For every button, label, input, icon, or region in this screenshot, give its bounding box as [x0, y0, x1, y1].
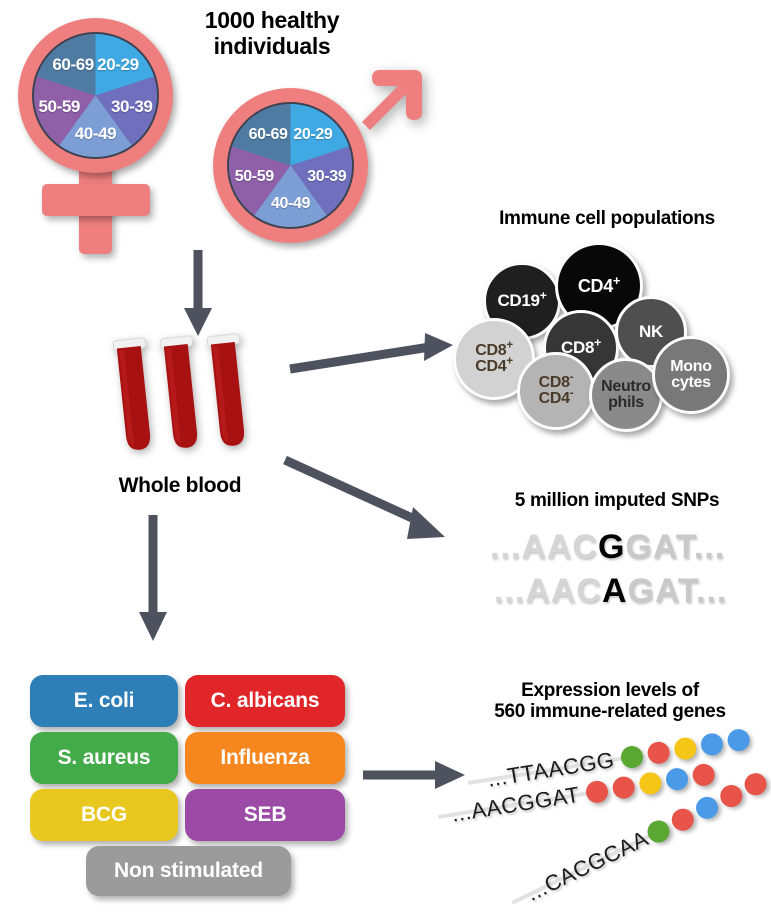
immune-cell-bubbles: CD19+CD4+CD8+CD4+CD8+NKCD8-CD4-Neutrophi…: [455, 240, 771, 425]
snp-suffix: GAT...: [625, 528, 725, 566]
arrow-down-to-stimuli: [133, 515, 173, 645]
pie-label-60-69: 60-69: [52, 55, 93, 75]
stimuli-buttons: E. coliC. albicansS. aureusInfluenzaBCGS…: [30, 675, 350, 900]
immune-cell-label: NK: [639, 323, 663, 340]
snp-title: 5 million imputed SNPs: [467, 490, 767, 511]
gene-expression-bead: [584, 779, 609, 804]
snp-sequence-row: ...AACAGAT...: [494, 572, 727, 611]
gene-expression-bead: [638, 771, 663, 796]
gene-expression-bead: [726, 728, 751, 753]
pie-label-40-49: 40-49: [271, 195, 310, 213]
immune-cell-label: CD4+: [578, 277, 620, 295]
female-symbol-crossbar: [42, 184, 150, 216]
snp-sequence-row: ...AACGGAT...: [490, 528, 725, 567]
stimulus-e-coli[interactable]: E. coli: [30, 675, 178, 727]
snp-prefix: ...AAC: [494, 572, 602, 610]
blood-tube-icon: [199, 331, 257, 456]
stimulus-label: S. aureus: [58, 746, 151, 770]
snp-prefix: ...AAC: [490, 528, 598, 566]
gene-expression-bead: [664, 767, 689, 792]
immune-cell-label: CD8-CD4-: [539, 375, 574, 408]
pie-label-30-39: 30-39: [307, 168, 346, 186]
male-gender-symbol: 20-2930-3940-4950-5960-69: [200, 50, 430, 250]
immune-cell-label: Neutrophils: [601, 379, 651, 412]
stimulus-influenza[interactable]: Influenza: [185, 732, 345, 784]
stimulus-label: Influenza: [220, 746, 309, 770]
immune-cell-label: CD8+CD4+: [475, 343, 513, 376]
whole-blood-label: Whole blood: [90, 474, 270, 498]
expression-title-line1: Expression levels of: [450, 680, 770, 701]
immune-cell-label: Monocytes: [670, 359, 711, 392]
gene-expression-bead: [611, 775, 636, 800]
gene-expression-bead: [668, 805, 697, 834]
arrow-to-snps: [285, 455, 460, 550]
stimulus-label: C. albicans: [211, 689, 320, 713]
gene-strand-sequence: ...CACGCAA: [522, 825, 652, 906]
stimulus-s-aureus[interactable]: S. aureus: [30, 732, 178, 784]
stimulus-label: E. coli: [74, 689, 134, 713]
pie-label-50-59: 50-59: [39, 97, 80, 117]
expression-title: Expression levels of 560 immune-related …: [450, 680, 770, 723]
gene-expression-bead: [692, 793, 721, 822]
stimulus-label: SEB: [244, 803, 287, 827]
snp-variant-base: G: [598, 528, 625, 566]
snp-sequences: ...AACGGAT......AACAGAT...: [490, 528, 760, 618]
stimulus-label: Non stimulated: [114, 859, 263, 883]
pie-label-20-29: 20-29: [293, 126, 332, 144]
pie-label-20-29: 20-29: [97, 55, 138, 75]
pie-label-40-49: 40-49: [75, 124, 116, 144]
gene-expression-bead: [741, 769, 770, 798]
pie-label-60-69: 60-69: [249, 126, 288, 144]
pie-label-50-59: 50-59: [235, 168, 274, 186]
cohort-title-line1: 1000 healthy: [182, 8, 362, 34]
stimulus-bcg[interactable]: BCG: [30, 789, 178, 841]
pie-label-30-39: 30-39: [111, 97, 152, 117]
stimulus-label: BCG: [81, 803, 127, 827]
gene-expression-bead: [717, 781, 746, 810]
immune-cell-label: CD19+: [497, 292, 546, 309]
blood-tubes-group: [105, 335, 265, 465]
stimulus-non-stimulated[interactable]: Non stimulated: [86, 846, 291, 896]
female-gender-symbol: 20-2930-3940-4950-5960-69: [8, 12, 188, 252]
snp-variant-base: A: [602, 572, 628, 610]
arrow-to-immune-cells: [290, 325, 465, 380]
immune-title: Immune cell populations: [452, 208, 762, 229]
snp-suffix: GAT...: [628, 572, 728, 610]
gene-strands: ...TTAACGG...AACGGAT...CACGCAA: [440, 735, 771, 915]
stimulus-seb[interactable]: SEB: [185, 789, 345, 841]
stimulus-c-albicans[interactable]: C. albicans: [185, 675, 345, 727]
immune-cell-bubble-Monocytes: Monocytes: [652, 336, 730, 414]
immune-cell-bubble-CD8negCD4neg: CD8-CD4-: [517, 352, 595, 430]
expression-title-line2: 560 immune-related genes: [450, 701, 770, 722]
arrow-down-to-blood: [178, 250, 218, 340]
